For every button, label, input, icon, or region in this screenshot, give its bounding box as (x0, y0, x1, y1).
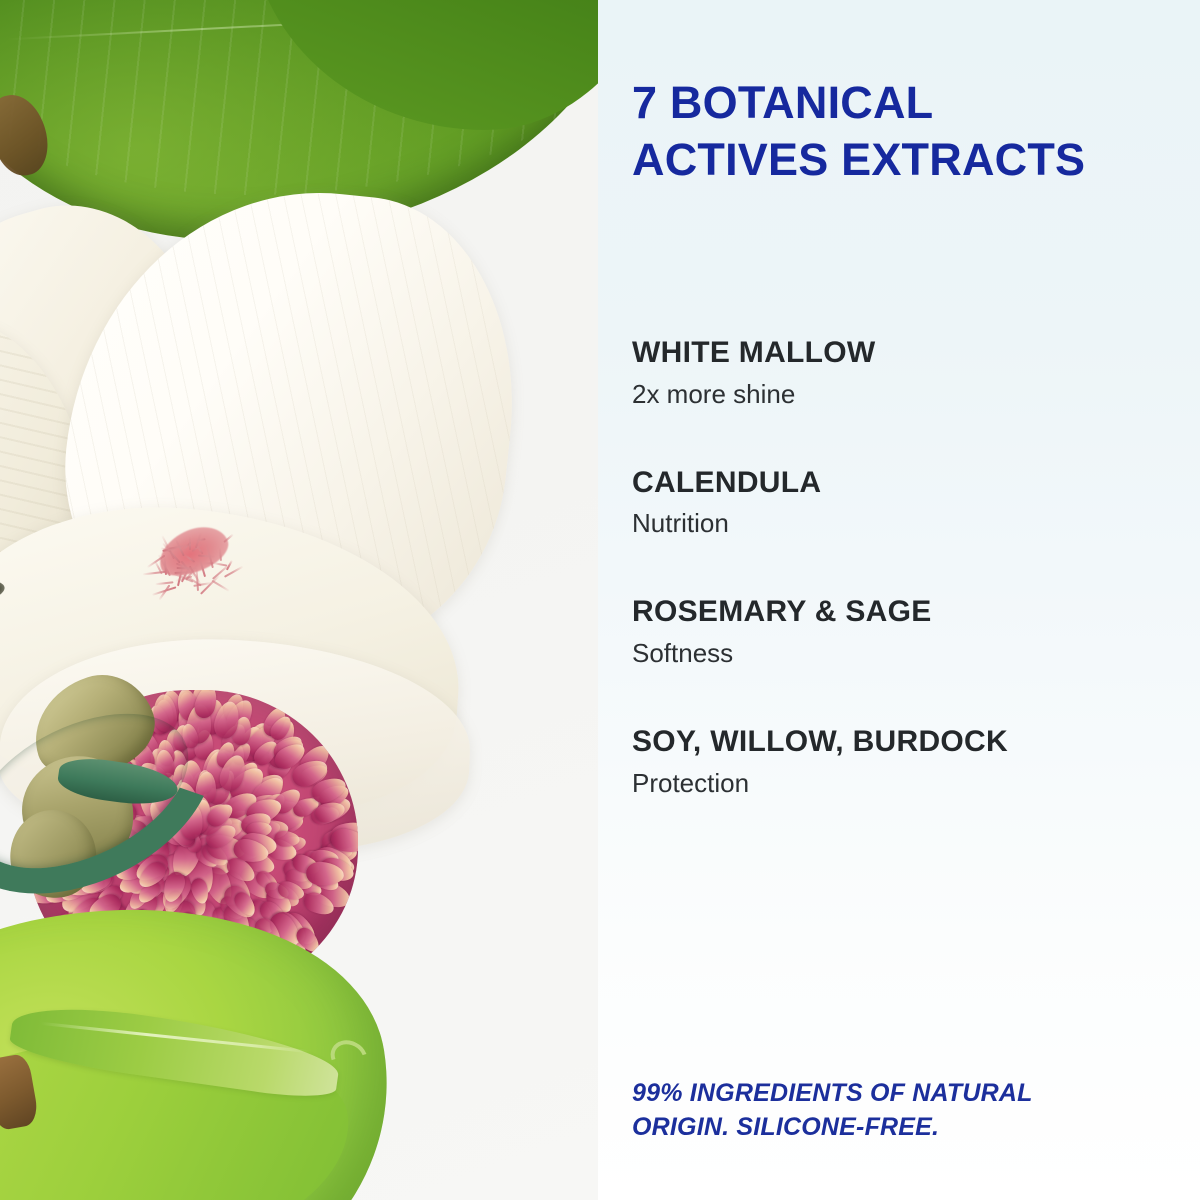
natural-origin-claim: 99% INGREDIENTS OF NATURAL ORIGIN. SILIC… (632, 1077, 1172, 1144)
stamen-filament (226, 560, 232, 570)
headline-line-1: 7 BOTANICAL (632, 77, 933, 128)
claim-line-1: 99% INGREDIENTS OF NATURAL (632, 1079, 1033, 1107)
page-title: 7 BOTANICAL ACTIVES EXTRACTS (632, 74, 1192, 188)
stamen-filament (155, 582, 173, 586)
info-panel: 7 BOTANICAL ACTIVES EXTRACTS WHITE MALLO… (598, 0, 1200, 1200)
claim-line-2: ORIGIN. SILICONE-FREE. (632, 1111, 1172, 1145)
ingredient-name: WHITE MALLOW (632, 336, 1192, 371)
list-item: CALENDULA Nutrition (632, 466, 1192, 540)
ingredient-benefit: Nutrition (632, 508, 1192, 539)
headline-line-2: ACTIVES EXTRACTS (632, 131, 1192, 188)
ingredient-name: ROSEMARY & SAGE (632, 595, 1192, 630)
ingredient-list: WHITE MALLOW 2x more shine CALENDULA Nut… (632, 336, 1192, 799)
botanical-photo (0, 0, 598, 1200)
product-infographic: 7 BOTANICAL ACTIVES EXTRACTS WHITE MALLO… (0, 0, 1200, 1200)
ingredient-benefit: 2x more shine (632, 379, 1192, 410)
list-item: WHITE MALLOW 2x more shine (632, 336, 1192, 410)
stamen-filament (189, 537, 191, 550)
ingredient-name: SOY, WILLOW, BURDOCK (632, 725, 1192, 760)
ingredient-name: CALENDULA (632, 466, 1192, 501)
pink-stamen-cluster (135, 510, 255, 588)
ingredient-benefit: Protection (632, 768, 1192, 799)
ingredient-benefit: Softness (632, 638, 1192, 669)
list-item: ROSEMARY & SAGE Softness (632, 595, 1192, 669)
list-item: SOY, WILLOW, BURDOCK Protection (632, 725, 1192, 799)
stamen-filament (143, 572, 166, 576)
